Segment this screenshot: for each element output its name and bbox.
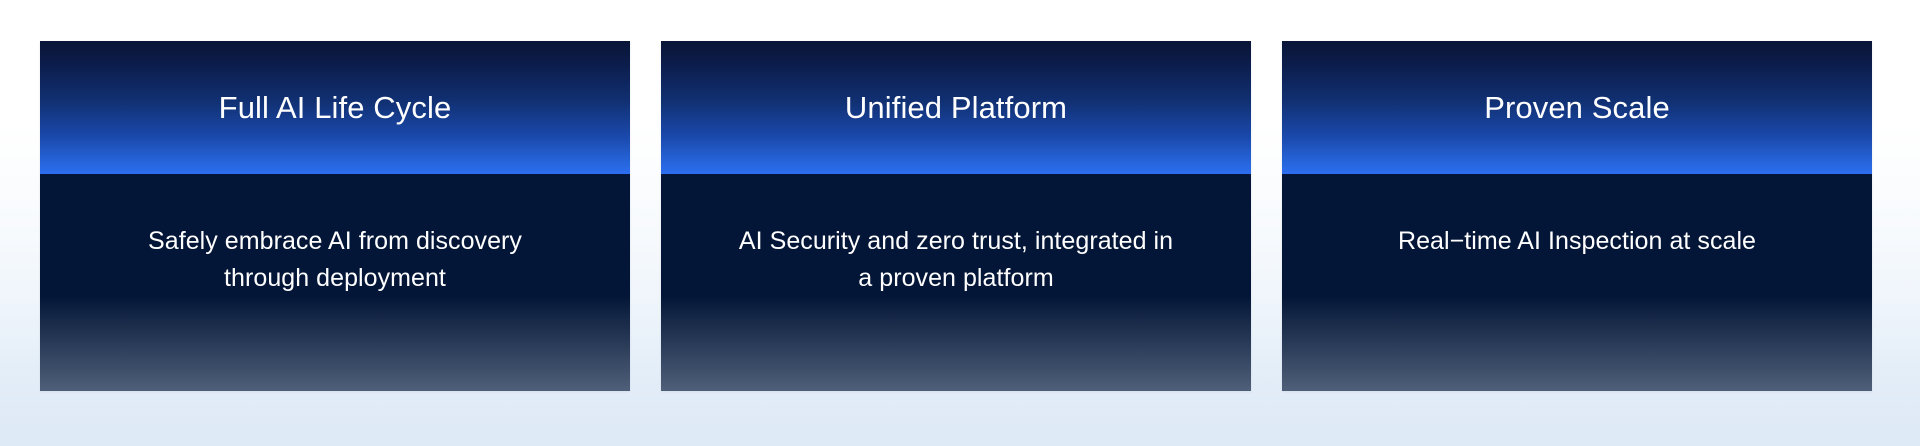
- card-body: Safely embrace AI from discovery through…: [40, 174, 630, 391]
- feature-card-unified-platform[interactable]: Unified Platform AI Security and zero tr…: [661, 41, 1251, 391]
- feature-card-row: Full AI Life Cycle Safely embrace AI fro…: [40, 41, 1872, 391]
- card-description: AI Security and zero trust, integrated i…: [736, 223, 1176, 297]
- card-header-banner: Proven Scale: [1282, 41, 1872, 174]
- card-body: AI Security and zero trust, integrated i…: [661, 174, 1251, 391]
- page-root: Full AI Life Cycle Safely embrace AI fro…: [0, 0, 1920, 446]
- card-description: Safely embrace AI from discovery through…: [115, 223, 555, 297]
- card-header-banner: Full AI Life Cycle: [40, 41, 630, 174]
- card-body: Real−time AI Inspection at scale: [1282, 174, 1872, 391]
- card-title: Full AI Life Cycle: [201, 89, 470, 126]
- feature-card-proven-scale[interactable]: Proven Scale Real−time AI Inspection at …: [1282, 41, 1872, 391]
- feature-card-full-ai-life-cycle[interactable]: Full AI Life Cycle Safely embrace AI fro…: [40, 41, 630, 391]
- card-title: Unified Platform: [827, 89, 1085, 126]
- card-header-banner: Unified Platform: [661, 41, 1251, 174]
- card-description: Real−time AI Inspection at scale: [1398, 223, 1756, 260]
- card-title: Proven Scale: [1466, 89, 1688, 126]
